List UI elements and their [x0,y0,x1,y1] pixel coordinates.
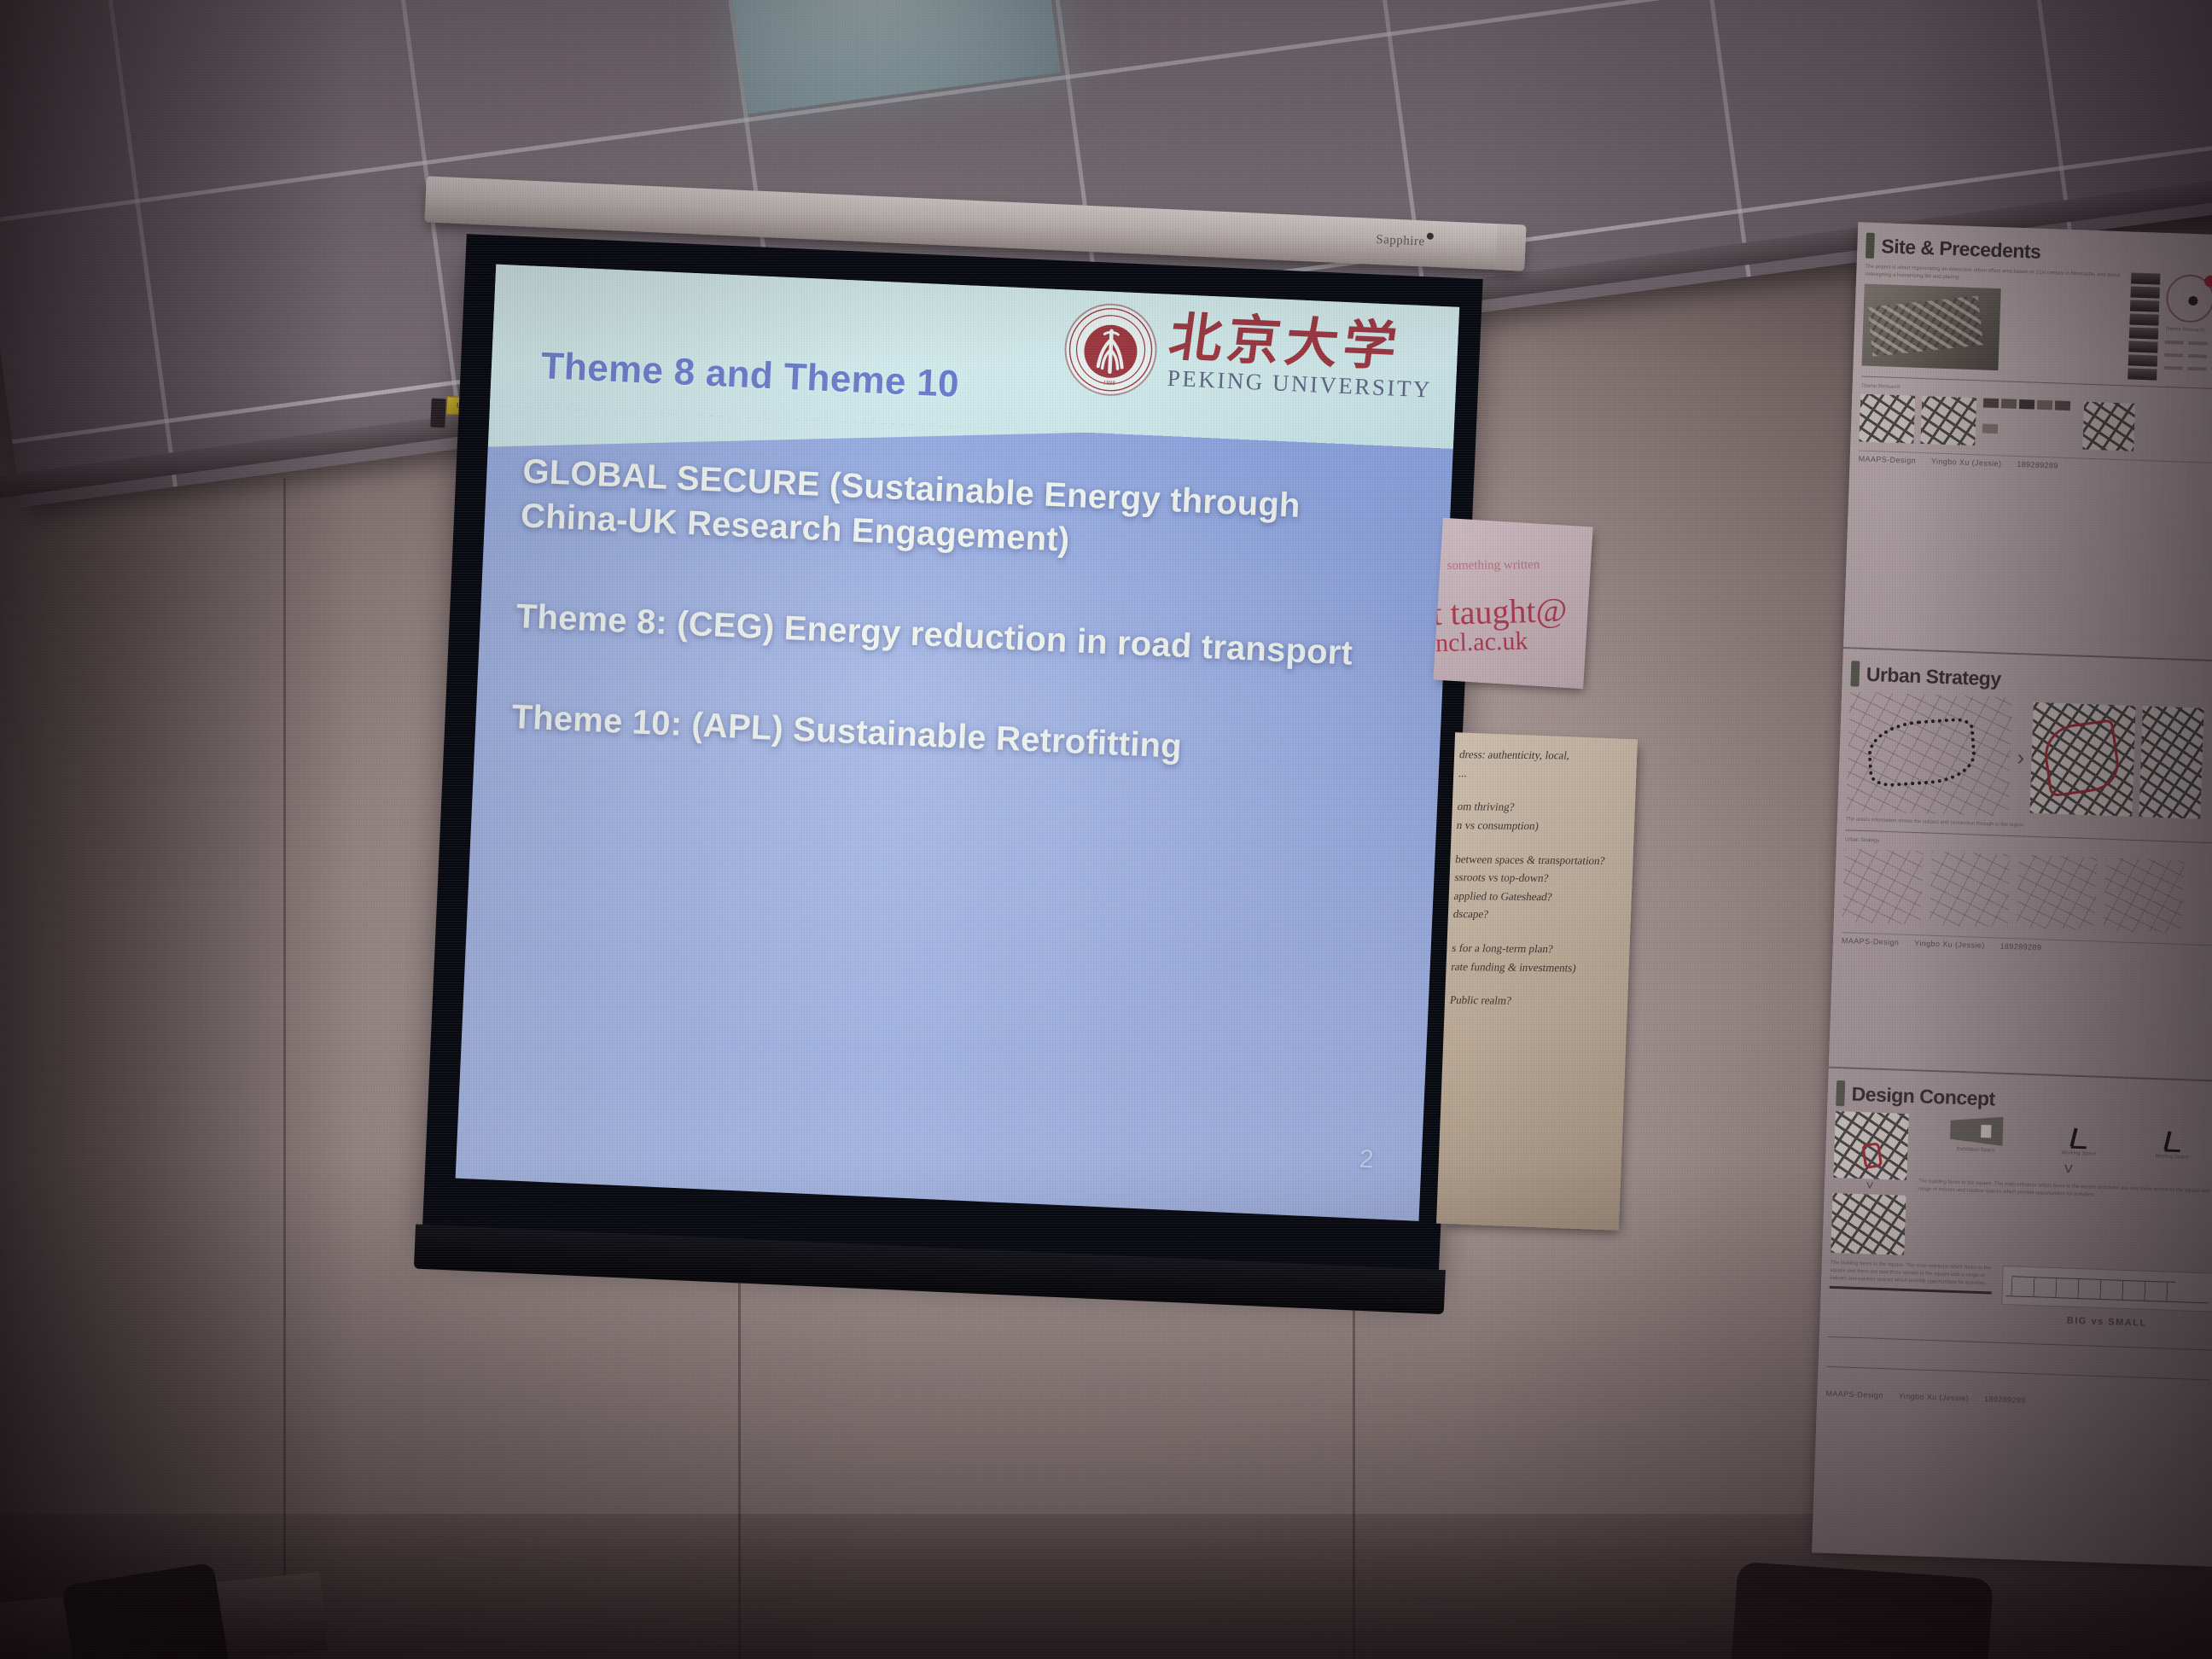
urban-figure-ground-plan [2139,706,2203,818]
poster-note-label: BIG vs SMALL [2001,1313,2212,1331]
poster-student-id: 189289289 [1984,1394,2026,1405]
handwritten-line: rate funding & investments) [1450,961,1622,975]
working-space-icon [2069,1126,2089,1150]
concept-site-plan [1833,1111,1909,1180]
plan-highlight-loop [1862,1142,1883,1169]
strategy-diagram [1842,848,1924,924]
lecture-room-scene: Sapphire LASER [0,0,2212,1659]
strategy-diagram [2104,858,2185,934]
handwritten-line: dress: authenticity, local, [1458,748,1631,762]
poster-heading: Urban Strategy [1866,662,2001,690]
handwritten-line: ... [1458,767,1630,781]
icon-caption: Resting Space [2155,1154,2188,1160]
handwritten-line: dscape? [1452,908,1625,922]
handwritten-notes-sheet: dress: authenticity, local, ... om thriv… [1436,732,1638,1231]
note-line-1: something written [1447,558,1540,573]
handwritten-line: between spaces & transportation? [1454,853,1627,867]
poster-student-name: Yingbo Xu (Jessie) [1899,1391,1970,1402]
radial-diagram [2166,274,2212,323]
icon-caption: Working Space [2062,1150,2097,1156]
projected-slide: 1898 北京大学 PEKING UNIVERSITY Theme 8 and … [456,265,1460,1221]
slide-body: GLOBAL SECURE (Sustainable Energy throug… [511,449,1417,778]
resting-space-icon [2163,1129,2182,1152]
icon-caption: Exhibition Space [1957,1147,1995,1154]
handwritten-line: om thriving? [1457,800,1629,814]
poster-side-text: Theme Research [2165,326,2212,336]
handwritten-line: s for a long-term plan? [1451,942,1623,956]
architectural-model-photo [1861,284,2000,371]
plan-highlight-loop [2041,719,2123,798]
poster-footer-meta: MAAPS-Design Yingbo Xu (Jessie) 18928928… [1825,1388,2209,1413]
building-section-drawing [2002,1266,2212,1313]
poster-heading: Design Concept [1851,1082,1995,1110]
svg-text:1898: 1898 [1103,379,1115,387]
housing-brand-label: Sapphire [1376,233,1425,250]
chevron-right-icon: › [2017,746,2025,768]
handwritten-line: n vs consumption) [1456,819,1628,833]
poster-student-id: 189289289 [2017,460,2058,470]
poster-body-text: The building faces to the square. The ma… [1918,1178,2212,1203]
urban-sketch-map [1846,691,2012,817]
poster-footer-meta: MAAPS-Design Yingbo Xu (Jessie) 18928928… [1842,932,2212,961]
poster-site-precedents: Site & Precedents The project is about r… [1843,222,2212,662]
poster-board: Site & Precedents The project is about r… [1812,222,2212,1566]
chair-right [1731,1562,1994,1659]
photo-thumbnail-strip [2128,272,2160,380]
note-line-3: ncl.ac.uk [1435,626,1528,658]
poster-author: MAAPS-Design [1859,454,1917,464]
poster-design-concept: Design Concept ˅ Exhibition Space [1812,1070,2212,1567]
concept-icon-row: Exhibition Space Working Space Resting S… [1919,1114,2212,1161]
housing-end-cap [1495,224,1526,271]
handwritten-line: Public realm? [1449,994,1621,1008]
heading-accent-bar [1850,661,1860,686]
strategy-diagram [1930,852,2011,928]
housing-screw [1427,233,1434,240]
urban-figure-ground-plan [2029,702,2135,817]
heading-accent-bar [1836,1080,1845,1106]
poster-urban-strategy: Urban Strategy › The area's information … [1829,650,2212,1082]
peking-university-logo: 1898 北京大学 PEKING UNIVERSITY [1062,301,1435,410]
poster-footer-meta: MAAPS-Design Yingbo Xu (Jessie) 18928928… [1858,450,2212,479]
exhibition-space-icon [1949,1115,2003,1146]
handwritten-line: applied to Gateshead? [1453,890,1626,904]
poster-student-name: Yingbo Xu (Jessie) [1931,457,2002,468]
slide-page-number: 2 [1359,1145,1374,1175]
projection-screen: 1898 北京大学 PEKING UNIVERSITY Theme 8 and … [422,234,1482,1285]
route-overlay [1866,717,1977,789]
chevron-down-icon: ˅ [1866,1182,1874,1190]
cable-plug [430,399,445,428]
heading-accent-bar [1866,233,1875,259]
poster-author: MAAPS-Design [1842,936,1900,946]
poster-caption-text: The building faces to the square. The ma… [1830,1259,1993,1288]
site-plan-diagram [2082,402,2135,451]
poster-student-name: Yingbo Xu (Jessie) [1914,939,1985,950]
strategy-diagram [2017,854,2098,930]
concept-site-plan [1831,1193,1906,1255]
poster-body-text: The project is about regenerating an int… [1865,264,2124,288]
logo-chinese-name: 北京大学 [1166,313,1405,374]
poster-heading: Site & Precedents [1881,235,2041,264]
pink-sticky-note: something written t taught@ ncl.ac.uk [1433,518,1592,689]
site-plan-diagram [1859,394,1915,444]
poster-author: MAAPS-Design [1825,1388,1883,1399]
handwritten-line: ssroots vs top-down? [1453,871,1626,885]
peking-university-seal-icon: 1898 [1062,301,1159,398]
recessed-ceiling-light [719,0,1061,114]
site-plan-diagram [1920,396,1976,445]
poster-student-id: 189289289 [2000,942,2041,952]
wall-panel-joint [283,478,286,1659]
